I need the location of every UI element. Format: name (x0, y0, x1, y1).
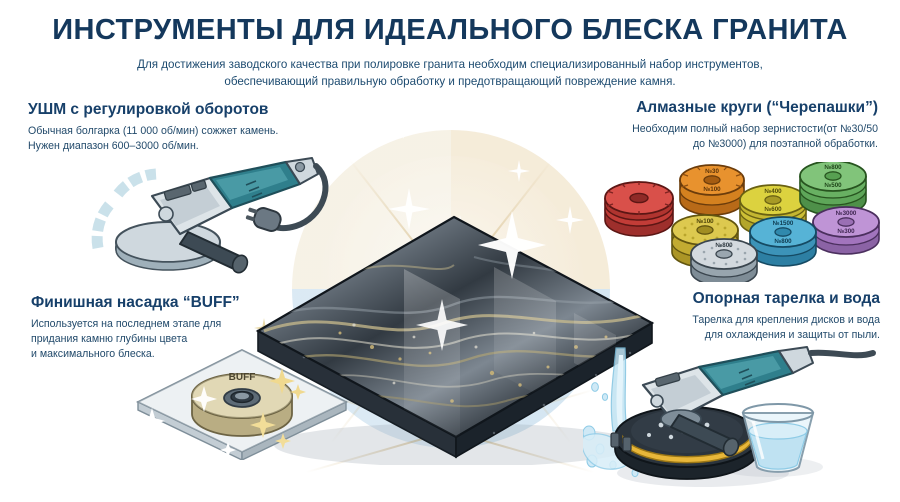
disc-label: №300 (837, 228, 855, 235)
section-heading: Финишная насадка “BUFF” (31, 294, 240, 312)
disc-label: №600 (764, 206, 782, 213)
section-body-line: для охлаждения и защиты от пыли. (692, 328, 880, 343)
disc-orange: №30 №100 (680, 165, 744, 215)
disc-label: №3000 (836, 210, 857, 217)
section-body-line: Используется на последнем этапе для (31, 317, 240, 332)
section-heading: УШМ с регулировкой оборотов (28, 101, 278, 119)
disc-purple: №3000 №300 (813, 207, 879, 254)
disc-label: №400 (764, 188, 782, 195)
buff-pad-illustration: BUFF (130, 340, 360, 465)
section-heading: Алмазные круги (“Черепашки”) (632, 99, 878, 117)
water-stream (611, 348, 627, 431)
section-body-line: Тарелка для крепления дисков и вода (692, 313, 880, 328)
section-body: Необходим полный набор зернистости(от №3… (632, 122, 878, 152)
disc-label: №100 (703, 186, 721, 193)
section-diamond-discs: Алмазные круги (“Черепашки”) Необходим п… (632, 99, 878, 152)
buff-label: BUFF (229, 372, 256, 383)
section-body-line: до №3000) для поэтапной обработки. (632, 137, 878, 152)
grinder-with-water-illustration (583, 345, 898, 502)
disc-label: №800 (715, 242, 733, 249)
disc-label: №30 (705, 168, 719, 175)
disc-label: №800 (824, 164, 842, 171)
page-title: ИНСТРУМЕНТЫ ДЛЯ ИДЕАЛЬНОГО БЛЕСКА ГРАНИТ… (0, 14, 900, 47)
section-backing-plate-water: Опорная тарелка и вода Тарелка для крепл… (692, 290, 880, 343)
section-heading: Опорная тарелка и вода (692, 290, 880, 308)
disc-label: №500 (824, 182, 842, 189)
section-body-line: Обычная болгарка (11 000 об/мин) сожжет … (28, 124, 278, 139)
disc-label: №100 (696, 218, 714, 225)
disc-white: №800 (691, 239, 757, 282)
infographic-canvas: ИНСТРУМЕНТЫ ДЛЯ ИДЕАЛЬНОГО БЛЕСКА ГРАНИТ… (0, 0, 900, 502)
disc-label: №800 (774, 238, 792, 245)
disc-label: №1500 (773, 220, 794, 227)
section-body-line: Необходим полный набор зернистости(от №3… (632, 122, 878, 137)
section-body: Тарелка для крепления дисков и вода для … (692, 313, 880, 343)
page-subtitle: Для достижения заводского качества при п… (110, 56, 790, 90)
disc-blue: №1500 №800 (750, 217, 816, 266)
